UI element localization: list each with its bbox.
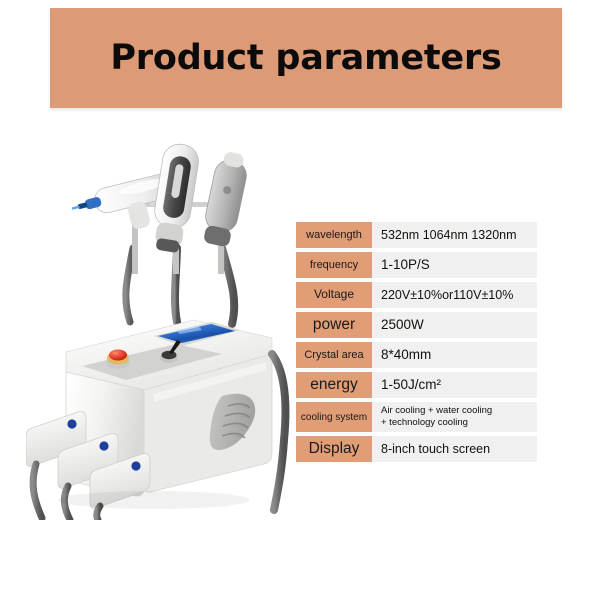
spec-label: cooling system bbox=[296, 402, 372, 432]
page-title: Product parameters bbox=[50, 38, 562, 78]
spec-label: wavelength bbox=[296, 222, 372, 248]
handpiece-dark-grip bbox=[149, 142, 201, 254]
spec-label: energy bbox=[296, 372, 372, 398]
spec-value: 8*40mm bbox=[372, 342, 537, 368]
spec-label: Crystal area bbox=[296, 342, 372, 368]
spec-label: Display bbox=[296, 436, 372, 462]
header-band: Product parameters bbox=[50, 8, 562, 108]
handpiece-cables bbox=[126, 248, 234, 324]
spec-row: frequency1-10P/S bbox=[296, 252, 537, 278]
spec-value: 1-50J/cm² bbox=[372, 372, 537, 398]
spec-table: wavelength532nm 1064nm 1320nmfrequency1-… bbox=[296, 222, 537, 466]
spec-label: power bbox=[296, 312, 372, 338]
spec-row: power2500W bbox=[296, 312, 537, 338]
spec-value: 220V±10%or110V±10% bbox=[372, 282, 537, 308]
spec-row: Voltage220V±10%or110V±10% bbox=[296, 282, 537, 308]
spec-row: Display8-inch touch screen bbox=[296, 436, 537, 462]
spec-value: 1-10P/S bbox=[372, 252, 537, 278]
spec-row: wavelength532nm 1064nm 1320nm bbox=[296, 222, 537, 248]
handpiece-grey bbox=[200, 150, 251, 249]
spec-row: energy1-50J/cm² bbox=[296, 372, 537, 398]
spec-value: 8-inch touch screen bbox=[372, 436, 537, 462]
spec-value: 532nm 1064nm 1320nm bbox=[372, 222, 537, 248]
spec-value: Air cooling + water cooling + technology… bbox=[372, 402, 537, 432]
spec-label: frequency bbox=[296, 252, 372, 278]
product-photo bbox=[26, 140, 306, 520]
spec-label: Voltage bbox=[296, 282, 372, 308]
spec-value: 2500W bbox=[372, 312, 537, 338]
spec-row: cooling systemAir cooling + water coolin… bbox=[296, 402, 537, 432]
spec-row: Crystal area8*40mm bbox=[296, 342, 537, 368]
